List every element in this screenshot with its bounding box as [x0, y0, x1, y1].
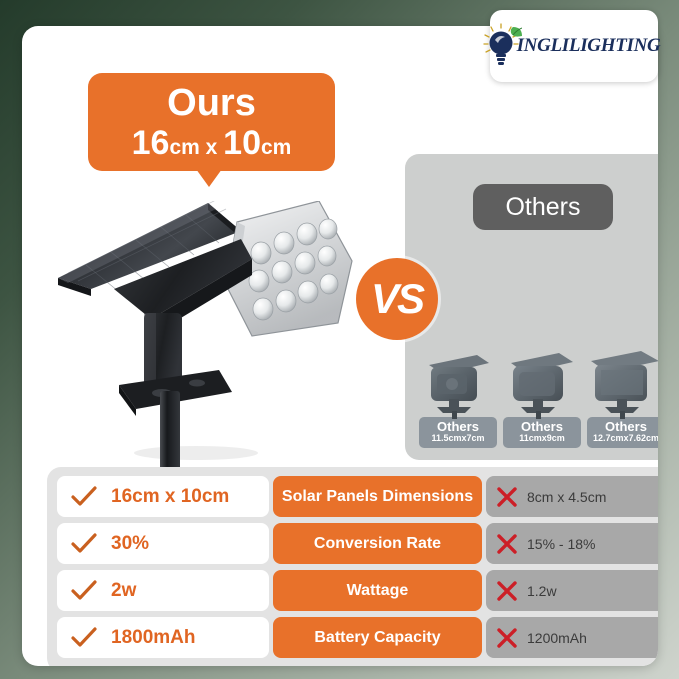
others-title-pill: Others: [473, 184, 613, 230]
cross-icon: [496, 533, 518, 555]
ours-product-image: [56, 201, 376, 486]
ours-badge-dimensions: 16cm x 10cm: [132, 126, 292, 160]
ours-value: 16cm x 10cm: [111, 486, 229, 508]
other-product-figure: [503, 343, 581, 419]
ours-dim-separator: x: [200, 136, 223, 159]
feature-cell: Battery Capacity: [273, 617, 482, 658]
comparison-table: 16cm x 10cm Solar Panels Dimensions 8cm …: [47, 467, 658, 666]
main-product-card: Ours 16cm x 10cm: [22, 26, 658, 666]
other-value: 8cm x 4.5cm: [527, 489, 606, 505]
other-cell: 1200mAh: [486, 617, 658, 658]
lightbulb-icon: [482, 23, 522, 69]
ours-dim-value-2: 10: [223, 124, 261, 162]
other-name-0: Others: [421, 420, 495, 434]
ours-dim-unit-1: cm: [169, 136, 199, 159]
table-row: 1800mAh Battery Capacity 1200mAh: [57, 617, 658, 658]
feature-cell: Wattage: [273, 570, 482, 611]
table-row: 30% Conversion Rate 15% - 18%: [57, 523, 658, 564]
check-icon: [71, 486, 97, 508]
other-cell: 15% - 18%: [486, 523, 658, 564]
ours-value: 2w: [111, 580, 136, 602]
feature-label: Wattage: [347, 582, 409, 600]
other-product-figure: [587, 343, 658, 419]
feature-label: Battery Capacity: [314, 629, 440, 647]
others-panel: Others Others: [405, 154, 658, 460]
check-icon: [71, 627, 97, 649]
ours-dim-unit-2: cm: [261, 136, 291, 159]
other-product-0: Others 11.5cmx7cm: [419, 343, 497, 448]
cross-icon: [496, 486, 518, 508]
ours-badge-title: Ours: [167, 84, 256, 122]
ours-badge: Ours 16cm x 10cm: [88, 73, 335, 171]
ours-dim-value-1: 16: [132, 124, 170, 162]
vs-label: VS: [371, 278, 423, 320]
other-value: 1200mAh: [527, 630, 587, 646]
ours-value: 1800mAh: [111, 627, 196, 649]
other-dimensions-2: 12.7cmx7.62cm: [589, 433, 658, 444]
ours-value: 30%: [111, 533, 149, 555]
other-name-1: Others: [505, 420, 579, 434]
feature-label: Solar Panels Dimensions: [282, 488, 473, 506]
other-cell: 1.2w: [486, 570, 658, 611]
table-row: 16cm x 10cm Solar Panels Dimensions 8cm …: [57, 476, 658, 517]
other-label-1: Others 11cmx9cm: [503, 417, 581, 448]
other-product-2: Others 12.7cmx7.62cm: [587, 343, 658, 448]
cross-icon: [496, 627, 518, 649]
check-icon: [71, 580, 97, 602]
brand-logo-text: INGLILIGHTING: [517, 35, 661, 57]
other-label-2: Others 12.7cmx7.62cm: [587, 417, 658, 448]
ours-cell: 30%: [57, 523, 269, 564]
ours-cell: 16cm x 10cm: [57, 476, 269, 517]
other-product-1: Others 11cmx9cm: [503, 343, 581, 448]
other-value: 15% - 18%: [527, 536, 595, 552]
feature-cell: Conversion Rate: [273, 523, 482, 564]
check-icon: [71, 533, 97, 555]
ours-cell: 2w: [57, 570, 269, 611]
cross-icon: [496, 580, 518, 602]
other-dimensions-0: 11.5cmx7cm: [421, 433, 495, 444]
table-row: 2w Wattage 1.2w: [57, 570, 658, 611]
ours-cell: 1800mAh: [57, 617, 269, 658]
others-title-label: Others: [505, 193, 580, 222]
other-value: 1.2w: [527, 583, 557, 599]
other-cell: 8cm x 4.5cm: [486, 476, 658, 517]
feature-cell: Solar Panels Dimensions: [273, 476, 482, 517]
other-label-0: Others 11.5cmx7cm: [419, 417, 497, 448]
other-dimensions-1: 11cmx9cm: [505, 433, 579, 444]
brand-logo: INGLILIGHTING: [490, 10, 658, 82]
other-name-2: Others: [589, 420, 658, 434]
other-product-figure: [419, 343, 497, 419]
feature-label: Conversion Rate: [314, 535, 441, 553]
vs-badge: VS: [356, 258, 438, 340]
